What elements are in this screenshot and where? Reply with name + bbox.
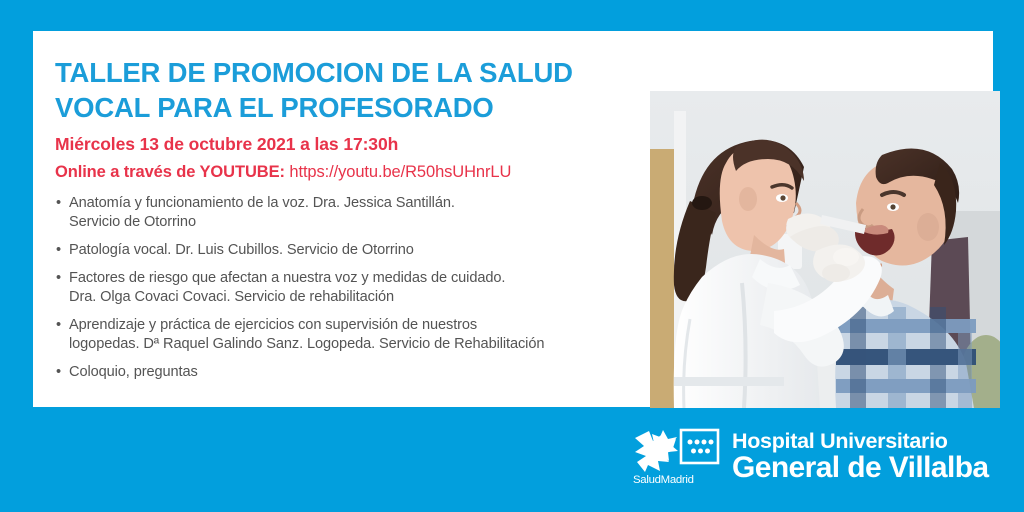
list-item: Coloquio, preguntas: [55, 363, 620, 383]
online-label: Online a través de YOUTUBE:: [55, 163, 285, 181]
saludmadrid-wordmark: SaludMadrid: [633, 474, 694, 486]
clinic-photo-illustration: [650, 91, 1000, 408]
hospital-logo: SaludMadrid Hospital Universitario Gener…: [633, 428, 989, 490]
list-item: Factores de riesgo que afectan a nuestra…: [55, 269, 620, 308]
saludmadrid-logo-mark: SaludMadrid: [633, 428, 721, 486]
poster-root: TALLER DE PROMOCION DE LA SALUD VOCAL PA…: [0, 0, 1024, 512]
hospital-name: Hospital Universitario General de Villal…: [732, 428, 989, 484]
event-date: Miércoles 13 de octubre 2021 a las 17:30…: [55, 134, 620, 156]
pinwheel-icon: [635, 430, 678, 472]
online-access-line: Online a través de YOUTUBE: https://yout…: [55, 162, 620, 183]
clinic-photo: [650, 91, 1000, 408]
hospital-name-line1: Hospital Universitario: [732, 430, 989, 452]
text-column: TALLER DE PROMOCION DE LA SALUD VOCAL PA…: [55, 55, 620, 390]
page-title: TALLER DE PROMOCION DE LA SALUD VOCAL PA…: [55, 55, 620, 125]
hospital-name-line2: General de Villalba: [732, 452, 989, 483]
list-item: Patología vocal. Dr. Luis Cubillos. Serv…: [55, 241, 620, 261]
agenda-list: Anatomía y funcionamiento de la voz. Dra…: [55, 194, 620, 382]
list-item: Aprendizaje y práctica de ejercicios con…: [55, 316, 620, 355]
madrid-emblem-icon: [633, 428, 721, 474]
list-item: Anatomía y funcionamiento de la voz. Dra…: [55, 194, 620, 233]
youtube-link[interactable]: https://youtu.be/R50hsUHnrLU: [289, 163, 511, 181]
seven-stars-icon: [688, 440, 714, 454]
content-card: TALLER DE PROMOCION DE LA SALUD VOCAL PA…: [33, 31, 993, 407]
